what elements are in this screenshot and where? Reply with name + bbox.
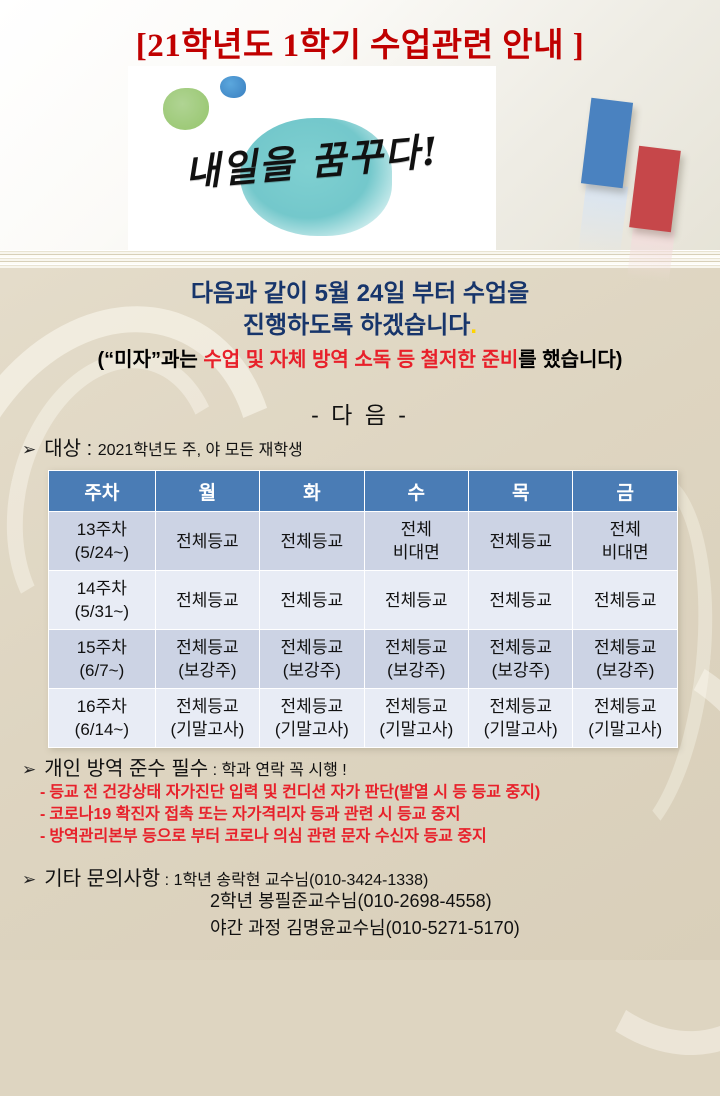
week-number: 16주차 [49, 695, 155, 718]
cell-line-2: (기말고사) [573, 718, 677, 741]
column-header-wednesday: 수 [365, 471, 468, 511]
list-item: -방역관리본부 등으로 부터 코로나 의심 관련 문자 수신자 등교 중지 [40, 826, 720, 848]
cell-line-1: 전체등교 [469, 695, 572, 718]
cell-tue: 전체등교 (기말고사) [260, 689, 363, 747]
cell-wed: 전체등교 [365, 571, 468, 629]
contact-heading-suffix: : [160, 872, 173, 889]
intro-note: (“미자”과는 수업 및 자체 방역 소독 등 철저한 준비를 했습니다) [0, 347, 720, 373]
cell-fri: 전체등교 [573, 571, 677, 629]
cell-fri: 전체등교 (보강주) [573, 630, 677, 688]
cell-line-2: (보강주) [573, 659, 677, 682]
arrow-bullet-icon: ➢ [22, 440, 36, 460]
cell-line-1: 전체등교 [260, 695, 363, 718]
cell-line-2: (기말고사) [156, 718, 259, 741]
week-number: 15주차 [49, 636, 155, 659]
school-logo: 내일을 꿈꾸다! [128, 66, 496, 250]
column-header-thursday: 목 [469, 471, 572, 511]
cell-tue: 전체등교 [260, 571, 363, 629]
week-number: 14주차 [49, 577, 155, 600]
hygiene-heading-line: ➢개인 방역 준수 필수 : 학과 연락 꼭 시행 ! [22, 752, 347, 781]
cell-wed: 전체등교 (기말고사) [365, 689, 468, 747]
dash-bullet-icon: - [40, 828, 45, 845]
column-header-friday: 금 [573, 471, 677, 511]
cell-thu: 전체등교 [469, 512, 572, 570]
column-header-week: 주차 [49, 471, 155, 511]
cell-line-1: 전체등교 [156, 695, 259, 718]
cell-line-1: 전체등교 [156, 530, 259, 553]
week-dates: (5/24~) [49, 541, 155, 564]
table-row: 15주차 (6/7~) 전체등교 (보강주) 전체등교 (보강주) 전체등교 (… [49, 630, 677, 688]
schedule-table: 주차 월 화 수 목 금 13주차 (5/24~) 전체등교 전체등교 전체 [48, 470, 678, 748]
list-item: -코로나19 확진자 접촉 또는 자가격리자 등과 관련 시 등교 중지 [40, 804, 720, 826]
cell-line-2: (보강주) [156, 659, 259, 682]
cell-line-1: 전체등교 [260, 636, 363, 659]
cell-thu: 전체등교 [469, 571, 572, 629]
section-heading-next: - 다 음 - [0, 396, 720, 430]
table-row: 14주차 (5/31~) 전체등교 전체등교 전체등교 전체등교 전체등교 [49, 571, 677, 629]
cell-line-1: 전체등교 [260, 589, 363, 612]
cell-line-1: 전체등교 [365, 589, 468, 612]
cell-line-2: 비대면 [365, 541, 468, 564]
intro-note-highlight: 수업 및 자체 방역 소독 등 철저한 준비 [203, 349, 518, 371]
cell-thu: 전체등교 (보강주) [469, 630, 572, 688]
intro-line-1: 다음과 같이 5월 24일 부터 수업을 [0, 278, 720, 310]
logo-calligraphy-text: 내일을 꿈꾸다! [121, 50, 504, 265]
cell-line-1: 전체등교 [365, 636, 468, 659]
dash-bullet-icon: - [40, 806, 45, 823]
intro-line-2-period: . [470, 312, 477, 339]
cell-line-1: 전체 [573, 518, 677, 541]
arrow-bullet-icon: ➢ [22, 870, 36, 890]
hygiene-heading-rest: : 학과 연락 꼭 시행 ! [208, 762, 347, 779]
list-item: -등교 전 건강상태 자가진단 입력 및 컨디션 자가 판단(발열 시 등 등교… [40, 782, 720, 804]
cell-line-1: 전체등교 [260, 530, 363, 553]
cell-mon: 전체등교 (기말고사) [156, 689, 259, 747]
cell-line-2: (보강주) [260, 659, 363, 682]
cell-line-2: (기말고사) [365, 718, 468, 741]
list-item: 2학년 봉필준교수님(010-2698-4558) [210, 888, 520, 915]
week-dates: (5/31~) [49, 600, 155, 623]
cell-wed: 전체 비대면 [365, 512, 468, 570]
intro-note-prefix: (“미자”과는 [98, 349, 204, 371]
row-week-label: 13주차 (5/24~) [49, 512, 155, 570]
page-title: [21학년도 1학기 수업관련 안내 ] [0, 18, 720, 66]
cell-line-1: 전체등교 [156, 589, 259, 612]
cell-line-2: (보강주) [365, 659, 468, 682]
cell-line-1: 전체등교 [365, 695, 468, 718]
contact-heading: 기타 문의사항 [44, 868, 160, 890]
cell-line-2: 비대면 [573, 541, 677, 564]
cell-line-1: 전체등교 [573, 589, 677, 612]
cell-line-1: 전체등교 [573, 636, 677, 659]
cell-mon: 전체등교 [156, 512, 259, 570]
hygiene-item-list: -등교 전 건강상태 자가진단 입력 및 컨디션 자가 판단(발열 시 등 등교… [40, 782, 720, 848]
cell-fri: 전체등교 (기말고사) [573, 689, 677, 747]
target-audience-line: ➢대상 : 2021학년도 주, 야 모든 재학생 [22, 432, 303, 461]
cell-tue: 전체등교 (보강주) [260, 630, 363, 688]
red-bar-reflection [627, 226, 675, 283]
intro-line-2: 진행하도록 하겠습니다. [0, 310, 720, 342]
cell-line-2: (기말고사) [260, 718, 363, 741]
cell-line-1: 전체등교 [469, 530, 572, 553]
cell-line-2: (기말고사) [469, 718, 572, 741]
column-header-tuesday: 화 [260, 471, 363, 511]
target-label: 대상 : [44, 438, 97, 460]
arrow-bullet-icon: ➢ [22, 760, 36, 780]
cell-line-1: 전체등교 [469, 589, 572, 612]
row-week-label: 15주차 (6/7~) [49, 630, 155, 688]
row-week-label: 14주차 (5/31~) [49, 571, 155, 629]
week-number: 13주차 [49, 518, 155, 541]
hygiene-heading-main: 개인 방역 준수 필수 [44, 758, 208, 780]
contact-heading-line: ➢기타 문의사항 : 1학년 송락현 교수님(010-3424-1338) [22, 862, 428, 891]
week-dates: (6/7~) [49, 659, 155, 682]
table-header-row: 주차 월 화 수 목 금 [49, 471, 677, 511]
hygiene-item-text: 등교 전 건강상태 자가진단 입력 및 컨디션 자가 판단(발열 시 등 등교 … [49, 784, 540, 801]
column-header-monday: 월 [156, 471, 259, 511]
cell-mon: 전체등교 (보강주) [156, 630, 259, 688]
cell-fri: 전체 비대면 [573, 512, 677, 570]
dash-bullet-icon: - [40, 784, 45, 801]
intro-line-2-text: 진행하도록 하겠습니다 [243, 312, 470, 339]
cell-line-2: (보강주) [469, 659, 572, 682]
table-row: 16주차 (6/14~) 전체등교 (기말고사) 전체등교 (기말고사) 전체등… [49, 689, 677, 747]
cell-tue: 전체등교 [260, 512, 363, 570]
list-item: 야간 과정 김명윤교수님(010-5271-5170) [210, 915, 520, 942]
blue-bar-reflection [578, 182, 628, 259]
cell-line-1: 전체등교 [573, 695, 677, 718]
cell-line-1: 전체등교 [156, 636, 259, 659]
intro-block: 다음과 같이 5월 24일 부터 수업을 진행하도록 하겠습니다. (“미자”과… [0, 278, 720, 373]
cell-thu: 전체등교 (기말고사) [469, 689, 572, 747]
row-week-label: 16주차 (6/14~) [49, 689, 155, 747]
hygiene-item-text: 방역관리본부 등으로 부터 코로나 의심 관련 문자 수신자 등교 중지 [49, 828, 486, 845]
hygiene-item-text: 코로나19 확진자 접촉 또는 자가격리자 등과 관련 시 등교 중지 [49, 806, 460, 823]
contact-list: 2학년 봉필준교수님(010-2698-4558) 야간 과정 김명윤교수님(0… [210, 888, 520, 942]
cell-line-1: 전체등교 [469, 636, 572, 659]
cell-mon: 전체등교 [156, 571, 259, 629]
cell-line-1: 전체 [365, 518, 468, 541]
table-row: 13주차 (5/24~) 전체등교 전체등교 전체 비대면 전체등교 전체 비 [49, 512, 677, 570]
cell-wed: 전체등교 (보강주) [365, 630, 468, 688]
contact-item-first: 1학년 송락현 교수님(010-3424-1338) [174, 872, 429, 889]
intro-note-suffix: 를 했습니다) [518, 349, 622, 371]
target-value: 2021학년도 주, 야 모든 재학생 [98, 442, 303, 459]
week-dates: (6/14~) [49, 718, 155, 741]
